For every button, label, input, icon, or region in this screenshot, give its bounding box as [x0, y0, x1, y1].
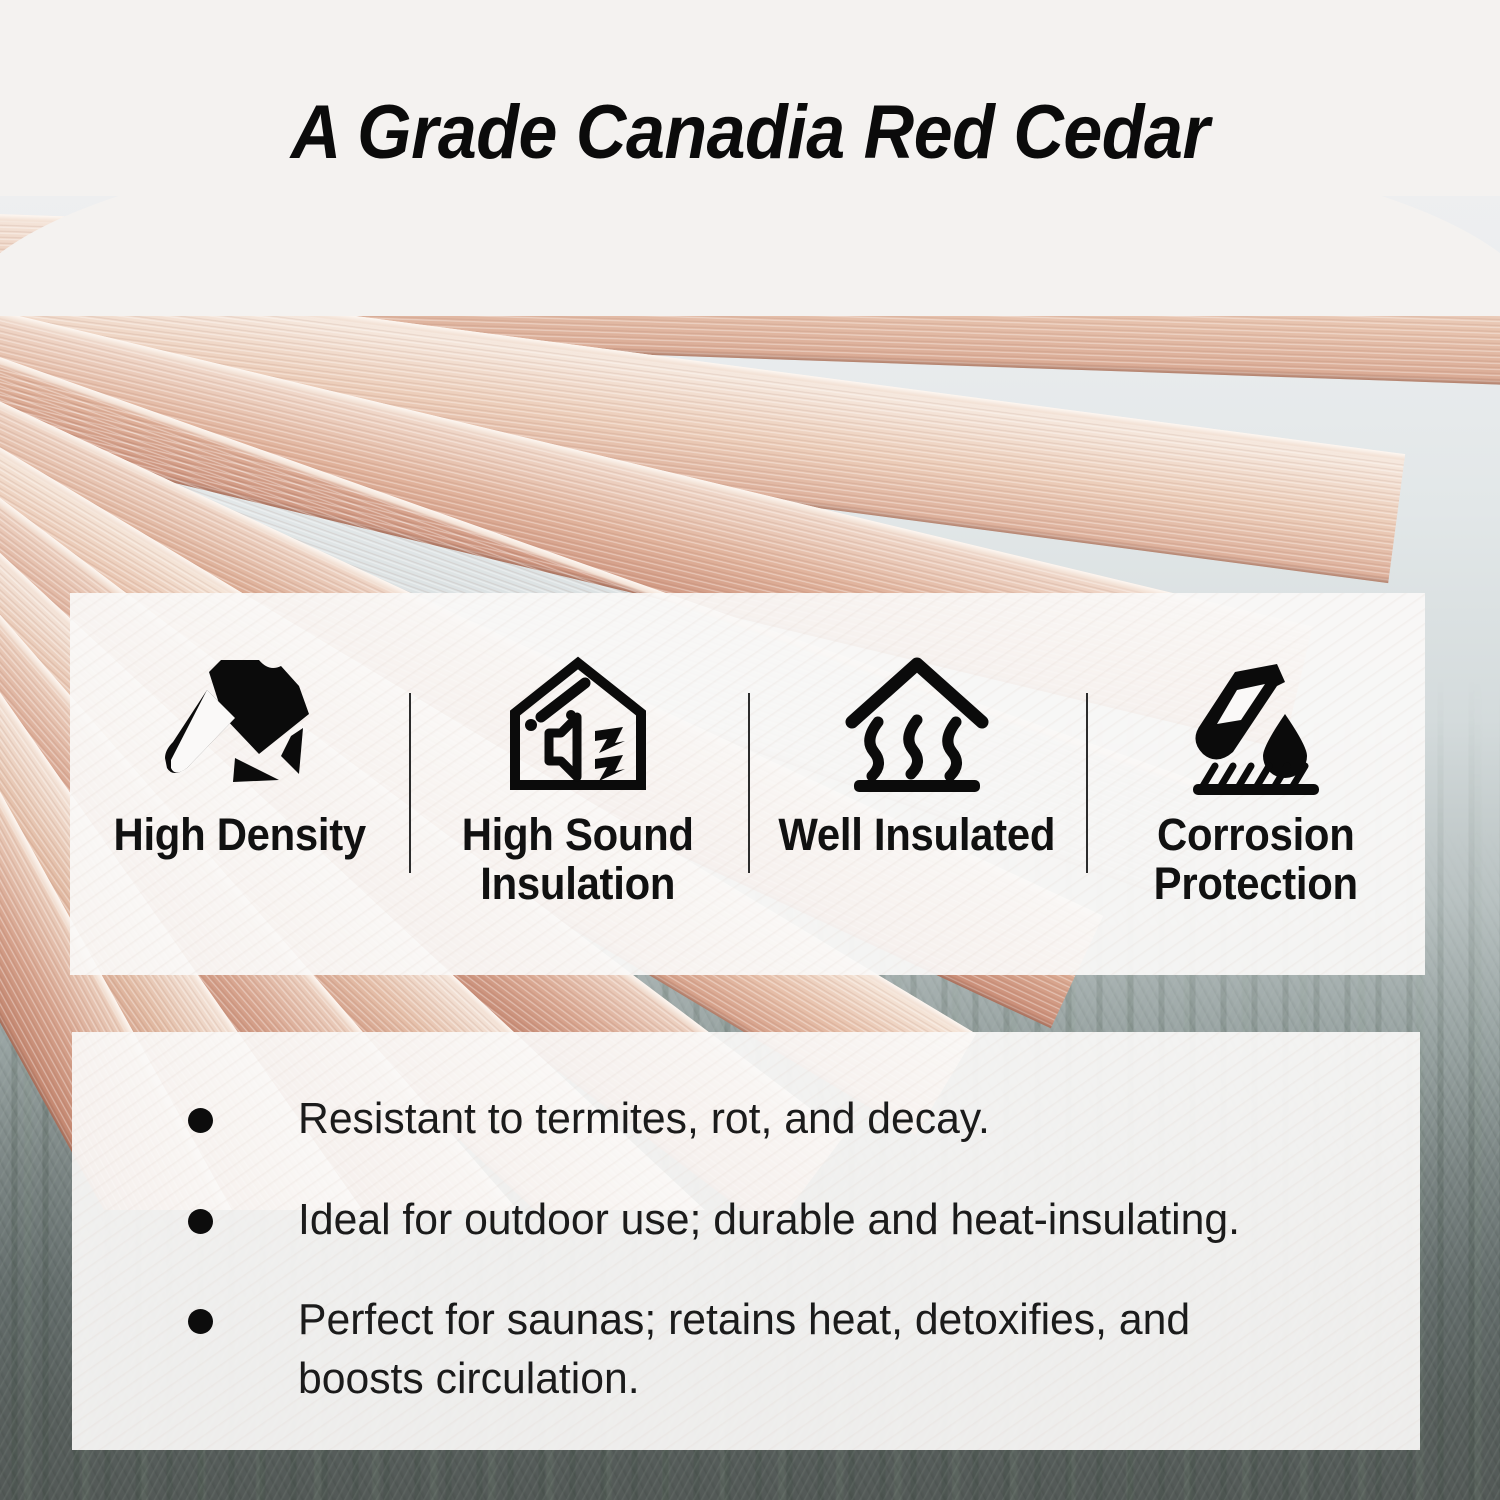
bullet-dot-icon — [188, 1209, 213, 1234]
benefits-list: Resistant to termites, rot, and decay. I… — [142, 1090, 1350, 1408]
list-item: Ideal for outdoor use; durable and heat-… — [142, 1191, 1350, 1250]
feature-label: Well Insulated — [779, 811, 1056, 860]
features-panel: High Density High — [70, 593, 1425, 975]
test-tube-droplet-icon — [1181, 651, 1331, 801]
feature-high-density: High Density — [70, 593, 409, 975]
feature-corrosion-protection: Corrosion Protection — [1086, 593, 1425, 975]
list-item: Perfect for saunas; retains heat, detoxi… — [142, 1291, 1350, 1408]
roof-heat-waves-icon — [842, 651, 992, 801]
feature-high-sound-insulation: High Sound Insulation — [409, 593, 748, 975]
benefit-text: Ideal for outdoor use; durable and heat-… — [298, 1191, 1240, 1250]
house-sound-insulation-icon — [503, 651, 653, 801]
benefit-text: Resistant to termites, rot, and decay. — [298, 1090, 990, 1149]
feature-label: High Density — [113, 811, 365, 860]
bullet-dot-icon — [188, 1309, 213, 1334]
infographic-canvas: A Grade Canadia Red Cedar — [0, 0, 1500, 1500]
feature-label: High Sound Insulation — [462, 811, 694, 908]
list-item: Resistant to termites, rot, and decay. — [142, 1090, 1350, 1149]
benefit-text: Perfect for saunas; retains heat, detoxi… — [298, 1291, 1318, 1408]
feature-well-insulated: Well Insulated — [748, 593, 1087, 975]
benefits-panel: Resistant to termites, rot, and decay. I… — [72, 1032, 1420, 1450]
bullet-dot-icon — [188, 1108, 213, 1133]
feature-label: Corrosion Protection — [1154, 811, 1358, 908]
hammer-icon — [163, 651, 315, 801]
page-title: A Grade Canadia Red Cedar — [60, 95, 1440, 171]
features-row: High Density High — [70, 593, 1425, 975]
